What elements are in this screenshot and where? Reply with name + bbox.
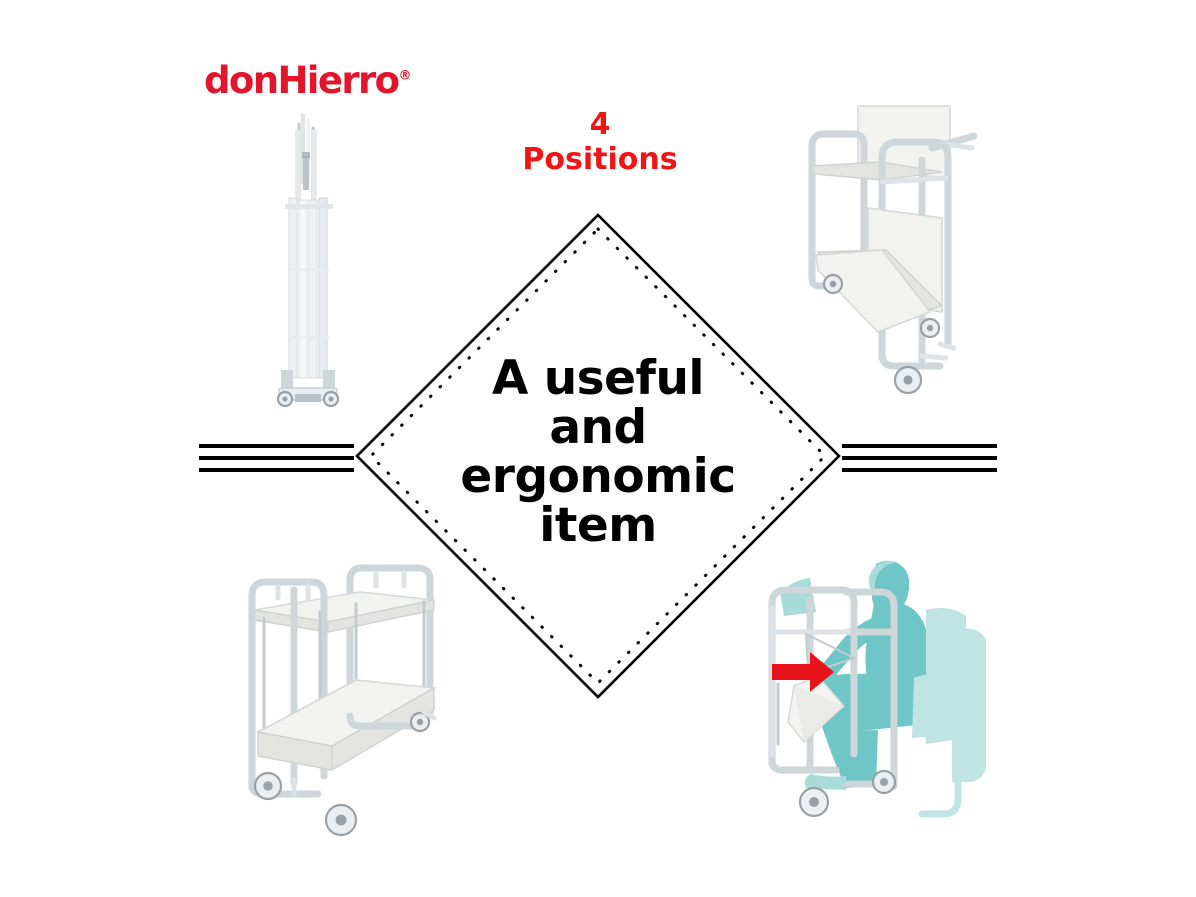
slide-canvas: donHierro® 4 Positions A useful and ergo… xyxy=(0,0,1196,897)
rule-line xyxy=(199,444,354,448)
center-callout-line-3: ergonomic xyxy=(430,453,766,502)
positions-heading: 4 Positions xyxy=(455,108,745,177)
rule-line xyxy=(199,468,354,472)
cart-folded-photo xyxy=(255,108,365,413)
center-callout-line-1: A useful xyxy=(430,355,766,404)
rule-line xyxy=(842,444,997,448)
center-callout-text: A useful and ergonomic item xyxy=(430,355,766,551)
registered-trademark-icon: ® xyxy=(399,69,412,84)
cart-narrow-photo xyxy=(782,100,1004,412)
rule-line xyxy=(199,456,354,460)
rule-line xyxy=(842,468,997,472)
cart-in-use-photo xyxy=(748,556,996,862)
brand-name-text: donHierro xyxy=(204,59,399,102)
positions-heading-line-2: Positions xyxy=(455,143,745,178)
rule-line xyxy=(842,456,997,460)
triple-rule-right xyxy=(842,443,997,475)
don-hierro-wordmark: donHierro® xyxy=(204,62,412,99)
cart-open-photo xyxy=(228,540,456,865)
center-callout-line-4: item xyxy=(430,502,766,551)
positions-heading-line-1: 4 xyxy=(455,108,745,143)
center-callout-line-2: and xyxy=(430,404,766,453)
triple-rule-left xyxy=(199,443,354,475)
